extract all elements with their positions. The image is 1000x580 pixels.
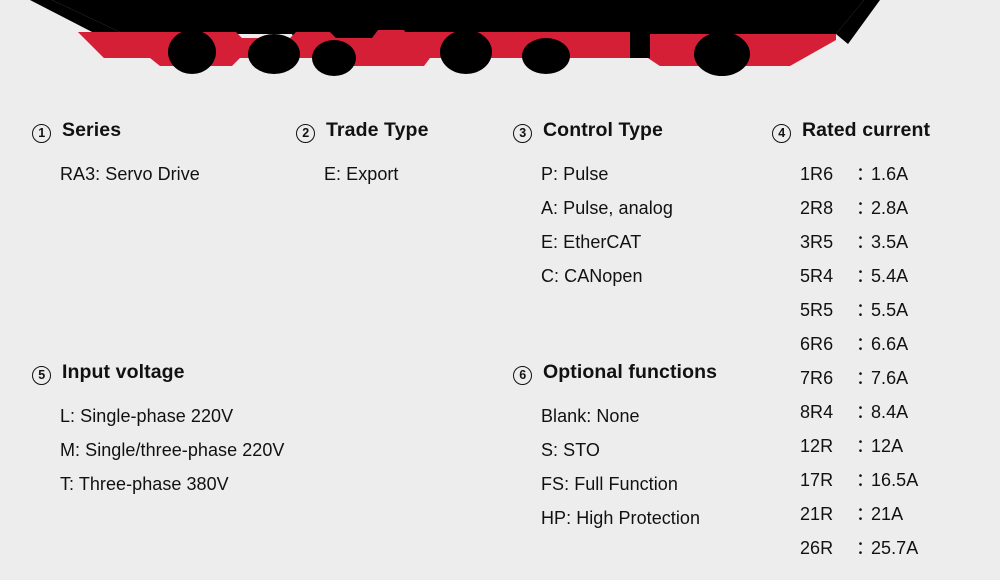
section-title-trade-type: Trade Type bbox=[326, 119, 429, 142]
section-marker-6: 6 bbox=[513, 366, 532, 385]
section-marker-3: 3 bbox=[513, 124, 532, 143]
section-items: L: Single-phase 220V M: Single/three-pha… bbox=[32, 399, 284, 501]
rated-current-separator: ： bbox=[856, 361, 871, 395]
rated-current-code: 7R6 bbox=[800, 361, 856, 395]
rated-current-separator: ： bbox=[856, 497, 871, 531]
rated-current-value: 16.5A bbox=[871, 463, 918, 497]
rated-current-row: 1R6：1.6A bbox=[800, 157, 930, 191]
list-item: E: EtherCAT bbox=[541, 225, 673, 259]
rated-current-separator: ： bbox=[856, 293, 871, 327]
rated-current-row: 26R：25.7A bbox=[800, 531, 930, 565]
rated-current-row: 5R5：5.5A bbox=[800, 293, 930, 327]
section-title-control-type: Control Type bbox=[543, 119, 663, 142]
section-marker-5: 5 bbox=[32, 366, 51, 385]
list-item: FS: Full Function bbox=[541, 467, 717, 501]
rated-current-code: 17R bbox=[800, 463, 856, 497]
section-title-optional-functions: Optional functions bbox=[543, 361, 717, 384]
section-title-rated-current: Rated current bbox=[802, 119, 930, 142]
rated-current-value: 2.8A bbox=[871, 191, 908, 225]
rated-current-value: 6.6A bbox=[871, 327, 908, 361]
section-items: P: Pulse A: Pulse, analog E: EtherCAT C:… bbox=[513, 157, 673, 293]
list-item: A: Pulse, analog bbox=[541, 191, 673, 225]
rated-current-code: 6R6 bbox=[800, 327, 856, 361]
rated-current-separator: ： bbox=[856, 191, 871, 225]
section-marker-4: 4 bbox=[772, 124, 791, 143]
list-item: C: CANopen bbox=[541, 259, 673, 293]
section-header: 1 Series bbox=[32, 119, 200, 145]
rated-current-code: 1R6 bbox=[800, 157, 856, 191]
model-number-legend: 1 Series RA3: Servo Drive 2 Trade Type E… bbox=[0, 0, 1000, 580]
legend-section-optional-functions: 6 Optional functions Blank: None S: STO … bbox=[513, 361, 717, 535]
section-header: 6 Optional functions bbox=[513, 361, 717, 387]
rated-current-value: 1.6A bbox=[871, 157, 908, 191]
rated-current-value: 12A bbox=[871, 429, 903, 463]
section-items: Blank: None S: STO FS: Full Function HP:… bbox=[513, 399, 717, 535]
rated-current-value: 5.4A bbox=[871, 259, 908, 293]
rated-current-value: 25.7A bbox=[871, 531, 918, 565]
rated-current-code: 2R8 bbox=[800, 191, 856, 225]
rated-current-value: 7.6A bbox=[871, 361, 908, 395]
rated-current-row: 21R：21A bbox=[800, 497, 930, 531]
section-items: E: Export bbox=[296, 157, 429, 191]
rated-current-separator: ： bbox=[856, 157, 871, 191]
section-header: 3 Control Type bbox=[513, 119, 673, 145]
rated-current-value: 5.5A bbox=[871, 293, 908, 327]
rated-current-list: 1R6：1.6A2R8：2.8A3R5：3.5A5R4：5.4A5R5：5.5A… bbox=[772, 157, 930, 565]
rated-current-row: 3R5：3.5A bbox=[800, 225, 930, 259]
rated-current-code: 12R bbox=[800, 429, 856, 463]
legend-section-series: 1 Series RA3: Servo Drive bbox=[32, 119, 200, 191]
list-item: S: STO bbox=[541, 433, 717, 467]
rated-current-code: 5R4 bbox=[800, 259, 856, 293]
list-item: M: Single/three-phase 220V bbox=[60, 433, 284, 467]
list-item: Blank: None bbox=[541, 399, 717, 433]
list-item: L: Single-phase 220V bbox=[60, 399, 284, 433]
rated-current-separator: ： bbox=[856, 225, 871, 259]
list-item: E: Export bbox=[324, 157, 429, 191]
rated-current-row: 6R6：6.6A bbox=[800, 327, 930, 361]
rated-current-separator: ： bbox=[856, 395, 871, 429]
section-header: 5 Input voltage bbox=[32, 361, 284, 387]
rated-current-code: 26R bbox=[800, 531, 856, 565]
rated-current-row: 12R：12A bbox=[800, 429, 930, 463]
legend-section-trade-type: 2 Trade Type E: Export bbox=[296, 119, 429, 191]
section-title-input-voltage: Input voltage bbox=[62, 361, 185, 384]
list-item: T: Three-phase 380V bbox=[60, 467, 284, 501]
legend-section-rated-current: 4 Rated current 1R6：1.6A2R8：2.8A3R5：3.5A… bbox=[772, 119, 930, 565]
rated-current-code: 8R4 bbox=[800, 395, 856, 429]
rated-current-value: 3.5A bbox=[871, 225, 908, 259]
section-items: RA3: Servo Drive bbox=[32, 157, 200, 191]
rated-current-separator: ： bbox=[856, 531, 871, 565]
legend-section-input-voltage: 5 Input voltage L: Single-phase 220V M: … bbox=[32, 361, 284, 501]
rated-current-value: 21A bbox=[871, 497, 903, 531]
rated-current-row: 5R4：5.4A bbox=[800, 259, 930, 293]
rated-current-separator: ： bbox=[856, 259, 871, 293]
rated-current-code: 3R5 bbox=[800, 225, 856, 259]
section-marker-1: 1 bbox=[32, 124, 51, 143]
list-item: P: Pulse bbox=[541, 157, 673, 191]
rated-current-row: 2R8：2.8A bbox=[800, 191, 930, 225]
rated-current-separator: ： bbox=[856, 429, 871, 463]
list-item: RA3: Servo Drive bbox=[60, 157, 200, 191]
section-header: 2 Trade Type bbox=[296, 119, 429, 145]
rated-current-code: 5R5 bbox=[800, 293, 856, 327]
rated-current-row: 8R4：8.4A bbox=[800, 395, 930, 429]
section-marker-2: 2 bbox=[296, 124, 315, 143]
section-title-series: Series bbox=[62, 119, 121, 142]
rated-current-row: 17R：16.5A bbox=[800, 463, 930, 497]
rated-current-separator: ： bbox=[856, 327, 871, 361]
rated-current-code: 21R bbox=[800, 497, 856, 531]
rated-current-row: 7R6：7.6A bbox=[800, 361, 930, 395]
section-header: 4 Rated current bbox=[772, 119, 930, 145]
rated-current-value: 8.4A bbox=[871, 395, 908, 429]
legend-section-control-type: 3 Control Type P: Pulse A: Pulse, analog… bbox=[513, 119, 673, 293]
list-item: HP: High Protection bbox=[541, 501, 717, 535]
rated-current-separator: ： bbox=[856, 463, 871, 497]
